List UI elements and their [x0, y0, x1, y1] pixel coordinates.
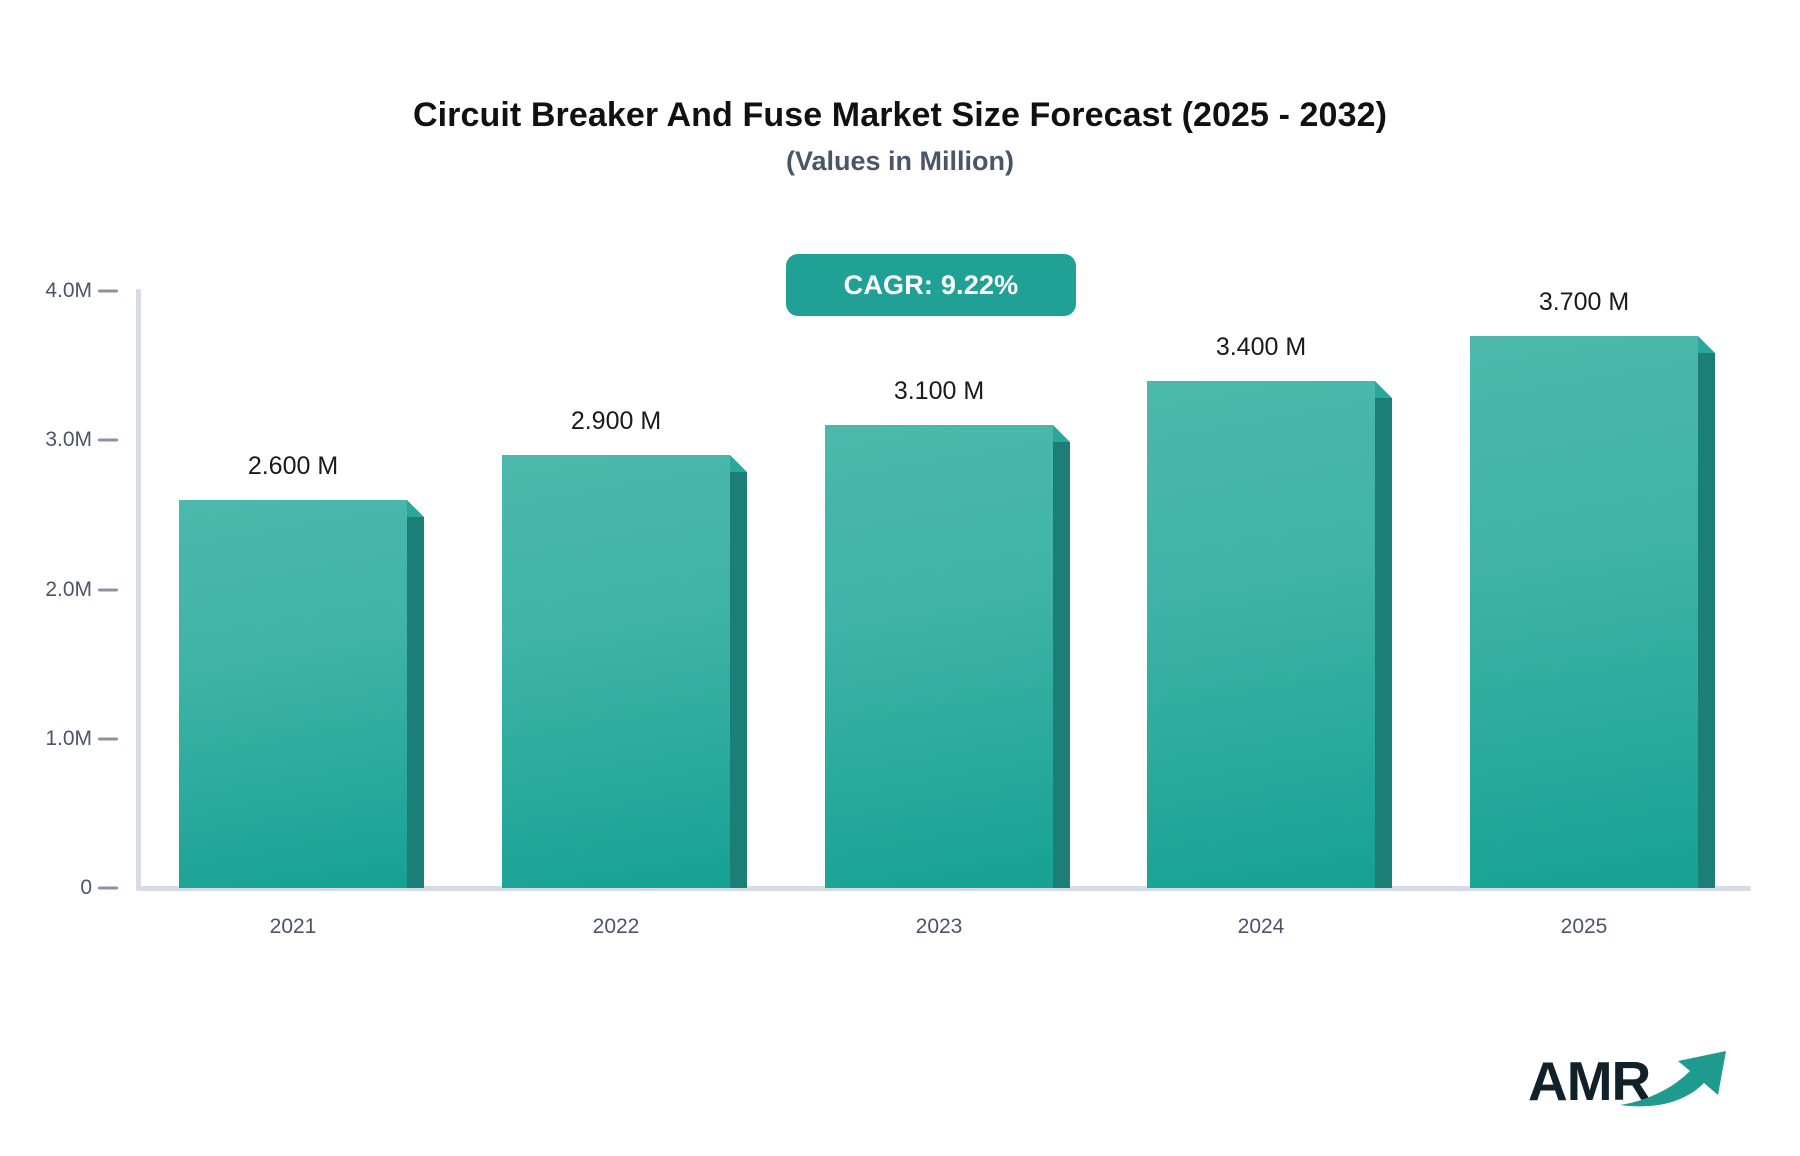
x-axis-tick-label: 2023 — [789, 915, 1089, 939]
bar-front-face — [825, 425, 1053, 888]
chart-title: Circuit Breaker And Fuse Market Size For… — [0, 96, 1800, 135]
cagr-badge: CAGR: 9.22% — [786, 254, 1076, 316]
bar-side-face — [1053, 442, 1070, 888]
bar-top-face — [407, 500, 424, 517]
bar-value-label: 3.400 M — [1101, 333, 1421, 362]
bar-value-label: 3.100 M — [779, 377, 1099, 406]
x-axis-tick-label: 2021 — [143, 915, 443, 939]
bar-top-face — [730, 455, 747, 472]
bar — [502, 455, 730, 888]
y-axis-tick-mark — [98, 439, 118, 442]
bar-value-label: 2.900 M — [456, 407, 776, 436]
bar-top-face — [1698, 336, 1715, 353]
bar-value-label: 2.600 M — [133, 452, 453, 481]
x-axis-tick-label: 2025 — [1434, 915, 1734, 939]
y-axis-tick-mark — [98, 290, 118, 293]
chart-canvas: Circuit Breaker And Fuse Market Size For… — [0, 0, 1800, 1156]
bar-front-face — [179, 500, 407, 888]
bar — [1147, 381, 1375, 888]
y-axis-tick-mark — [98, 887, 118, 890]
y-axis-spine — [136, 289, 141, 890]
bar-top-face — [1053, 425, 1070, 442]
bar-front-face — [502, 455, 730, 888]
bar-side-face — [407, 517, 424, 888]
y-axis-tick-label: 2.0M — [12, 578, 92, 602]
bar-side-face — [1375, 398, 1392, 888]
y-axis-tick-label: 4.0M — [12, 279, 92, 303]
bar — [179, 500, 407, 888]
y-axis-tick-label: 0 — [12, 876, 92, 900]
bar-side-face — [1698, 353, 1715, 888]
bar — [825, 425, 1053, 888]
x-axis-tick-label: 2022 — [466, 915, 766, 939]
chart-subtitle: (Values in Million) — [0, 146, 1800, 177]
bar — [1470, 336, 1698, 888]
cagr-badge-label: CAGR: 9.22% — [844, 270, 1019, 301]
bar-top-face — [1375, 381, 1392, 398]
growth-arrow-icon — [1618, 1049, 1738, 1111]
bar-value-label: 3.700 M — [1424, 288, 1744, 317]
y-axis-tick-label: 3.0M — [12, 428, 92, 452]
y-axis-tick-label: 1.0M — [12, 727, 92, 751]
bar-front-face — [1147, 381, 1375, 888]
y-axis-tick-mark — [98, 588, 118, 591]
x-axis-tick-label: 2024 — [1111, 915, 1411, 939]
y-axis-tick-mark — [98, 737, 118, 740]
bar-front-face — [1470, 336, 1698, 888]
amr-logo: AMR — [1528, 1045, 1738, 1120]
bar-side-face — [730, 472, 747, 888]
